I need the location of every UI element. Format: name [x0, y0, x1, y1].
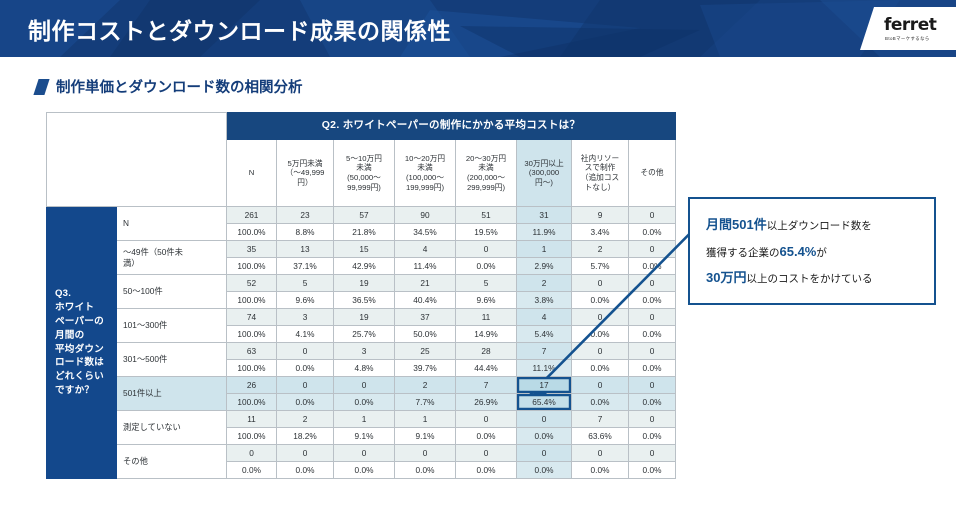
- subtitle-text: 制作単価とダウンロード数の相関分析: [56, 76, 303, 97]
- table-row: 301～500件63032528700: [47, 343, 676, 360]
- cell-percent-3-4: 14.9%: [456, 326, 517, 343]
- cell-percent-5-6: 0.0%: [572, 394, 629, 411]
- cell-count-0-3: 90: [395, 207, 456, 224]
- table-body: Q2. ホワイトペーパーの制作にかかる平均コストは？N5万円未満（～49,999…: [47, 113, 676, 479]
- cell-percent-5-2: 0.0%: [334, 394, 395, 411]
- cell-percent-1-0: 100.0%: [227, 258, 277, 275]
- cell-count-4-2: 3: [334, 343, 395, 360]
- cell-percent-3-6: 0.0%: [572, 326, 629, 343]
- cell-count-3-5: 4: [517, 309, 572, 326]
- cell-count-5-6: 0: [572, 377, 629, 394]
- cell-percent-0-5: 11.9%: [517, 224, 572, 241]
- cell-count-6-7: 0: [629, 411, 676, 428]
- cell-percent-5-1: 0.0%: [277, 394, 334, 411]
- cell-count-2-2: 19: [334, 275, 395, 292]
- cell-count-3-2: 19: [334, 309, 395, 326]
- cell-count-7-6: 0: [572, 445, 629, 462]
- cell-percent-5-5: 65.4%: [517, 394, 572, 411]
- cell-count-7-2: 0: [334, 445, 395, 462]
- cell-percent-3-0: 100.0%: [227, 326, 277, 343]
- cell-percent-0-2: 21.8%: [334, 224, 395, 241]
- callout-text: 月間501件以上ダウンロード数を 獲得する企業の65.4%が 30万円以上のコス…: [690, 199, 934, 292]
- cell-count-3-3: 37: [395, 309, 456, 326]
- cell-count-2-7: 0: [629, 275, 676, 292]
- column-header-5: 30万円以上(300,000円～): [517, 140, 572, 207]
- cell-count-5-4: 7: [456, 377, 517, 394]
- row-label-7: その他: [117, 445, 227, 479]
- cell-count-0-5: 31: [517, 207, 572, 224]
- cell-count-7-7: 0: [629, 445, 676, 462]
- cell-percent-4-7: 0.0%: [629, 360, 676, 377]
- table-row: 測定していない112110070: [47, 411, 676, 428]
- cell-percent-4-1: 0.0%: [277, 360, 334, 377]
- cell-percent-7-1: 0.0%: [277, 462, 334, 479]
- table-row: ～49件（50件未満）35131540120: [47, 241, 676, 258]
- cell-count-0-2: 57: [334, 207, 395, 224]
- cell-percent-6-6: 63.6%: [572, 428, 629, 445]
- column-header-3: 10～20万円未満(100,000～199,999円): [395, 140, 456, 207]
- cell-count-4-6: 0: [572, 343, 629, 360]
- column-header-6: 社内リソースで制作（追加コストなし）: [572, 140, 629, 207]
- row-label-2: 50～100件: [117, 275, 227, 309]
- table-row: その他00000000: [47, 445, 676, 462]
- cell-count-6-5: 0: [517, 411, 572, 428]
- cell-percent-3-3: 50.0%: [395, 326, 456, 343]
- callout-line1-rest: 以上ダウンロード数を: [767, 220, 872, 232]
- cell-percent-6-1: 18.2%: [277, 428, 334, 445]
- cell-count-5-2: 0: [334, 377, 395, 394]
- cell-count-1-6: 2: [572, 241, 629, 258]
- cell-count-0-6: 9: [572, 207, 629, 224]
- cell-count-1-0: 35: [227, 241, 277, 258]
- cell-count-2-1: 5: [277, 275, 334, 292]
- cell-count-2-5: 2: [517, 275, 572, 292]
- cell-percent-7-7: 0.0%: [629, 462, 676, 479]
- cell-count-0-7: 0: [629, 207, 676, 224]
- callout-line-1: 月間501件以上ダウンロード数を: [706, 212, 934, 239]
- row-label-6: 測定していない: [117, 411, 227, 445]
- cell-count-1-1: 13: [277, 241, 334, 258]
- cell-percent-4-6: 0.0%: [572, 360, 629, 377]
- crosstab-table: Q2. ホワイトペーパーの制作にかかる平均コストは？N5万円未満（～49,999…: [46, 112, 676, 479]
- cell-count-4-7: 0: [629, 343, 676, 360]
- cell-percent-0-6: 3.4%: [572, 224, 629, 241]
- cell-percent-1-3: 11.4%: [395, 258, 456, 275]
- cell-count-1-4: 0: [456, 241, 517, 258]
- cell-percent-0-7: 0.0%: [629, 224, 676, 241]
- cell-percent-7-3: 0.0%: [395, 462, 456, 479]
- cell-percent-7-2: 0.0%: [334, 462, 395, 479]
- cell-percent-4-0: 100.0%: [227, 360, 277, 377]
- cell-count-5-1: 0: [277, 377, 334, 394]
- cell-count-0-4: 51: [456, 207, 517, 224]
- table-row: 501件以上2600271700: [47, 377, 676, 394]
- cell-count-2-0: 52: [227, 275, 277, 292]
- cell-count-1-7: 0: [629, 241, 676, 258]
- cell-count-7-3: 0: [395, 445, 456, 462]
- cell-percent-5-4: 26.9%: [456, 394, 517, 411]
- page-title: 制作コストとダウンロード成果の関係性: [28, 12, 451, 46]
- cell-count-4-4: 28: [456, 343, 517, 360]
- cell-percent-1-6: 5.7%: [572, 258, 629, 275]
- cell-count-3-0: 74: [227, 309, 277, 326]
- cell-count-7-5: 0: [517, 445, 572, 462]
- cell-percent-6-0: 100.0%: [227, 428, 277, 445]
- cell-percent-7-0: 0.0%: [227, 462, 277, 479]
- row-label-5: 501件以上: [117, 377, 227, 411]
- cell-count-3-7: 0: [629, 309, 676, 326]
- q3-row-group-header: Q3.ホワイトペーパーの月間の平均ダウンロード数はどれくらいですか？: [47, 207, 117, 479]
- cell-percent-2-4: 9.6%: [456, 292, 517, 309]
- callout-line2-pre: 獲得する企業の: [706, 247, 780, 259]
- cell-percent-1-4: 0.0%: [456, 258, 517, 275]
- cell-count-1-5: 1: [517, 241, 572, 258]
- cell-count-4-5: 7: [517, 343, 572, 360]
- cell-percent-6-3: 9.1%: [395, 428, 456, 445]
- cell-count-6-1: 2: [277, 411, 334, 428]
- cell-percent-3-1: 4.1%: [277, 326, 334, 343]
- cell-percent-5-0: 100.0%: [227, 394, 277, 411]
- cell-percent-3-7: 0.0%: [629, 326, 676, 343]
- slash-accent-icon: [33, 79, 49, 95]
- cell-count-0-0: 261: [227, 207, 277, 224]
- cell-percent-2-3: 40.4%: [395, 292, 456, 309]
- cell-percent-1-7: 0.0%: [629, 258, 676, 275]
- crosstab-table-area: Q2. ホワイトペーパーの制作にかかる平均コストは？N5万円未満（～49,999…: [46, 112, 676, 479]
- cell-count-2-4: 5: [456, 275, 517, 292]
- cell-percent-5-3: 7.7%: [395, 394, 456, 411]
- column-header-2: 5～10万円未満(50,000～99,999円): [334, 140, 395, 207]
- ferret-logo: ferret BtoBマーケするなら: [860, 7, 956, 50]
- cell-percent-2-1: 9.6%: [277, 292, 334, 309]
- cell-percent-2-2: 36.5%: [334, 292, 395, 309]
- cell-percent-2-5: 3.8%: [517, 292, 572, 309]
- q2-column-group-header: Q2. ホワイトペーパーの制作にかかる平均コストは？: [227, 113, 676, 140]
- cell-count-4-0: 63: [227, 343, 277, 360]
- cell-percent-7-4: 0.0%: [456, 462, 517, 479]
- cell-count-3-6: 0: [572, 309, 629, 326]
- callout-line-2: 獲得する企業の65.4%が: [706, 239, 934, 266]
- cell-percent-6-5: 0.0%: [517, 428, 572, 445]
- cell-percent-2-0: 100.0%: [227, 292, 277, 309]
- row-label-0: N: [117, 207, 227, 241]
- cell-count-4-1: 0: [277, 343, 334, 360]
- cell-percent-2-7: 0.0%: [629, 292, 676, 309]
- cell-percent-6-4: 0.0%: [456, 428, 517, 445]
- column-header-7: その他: [629, 140, 676, 207]
- cell-count-1-2: 15: [334, 241, 395, 258]
- cell-count-3-1: 3: [277, 309, 334, 326]
- cell-percent-0-1: 8.8%: [277, 224, 334, 241]
- column-header-1: 5万円未満（～49,999円）: [277, 140, 334, 207]
- cell-percent-4-2: 4.8%: [334, 360, 395, 377]
- cell-percent-0-4: 19.5%: [456, 224, 517, 241]
- callout-line2-bold: 65.4%: [780, 244, 817, 259]
- cell-percent-1-1: 37.1%: [277, 258, 334, 275]
- cell-percent-7-5: 0.0%: [517, 462, 572, 479]
- cell-count-6-4: 0: [456, 411, 517, 428]
- cell-percent-6-2: 9.1%: [334, 428, 395, 445]
- table-row: 101～300件743193711400: [47, 309, 676, 326]
- callout-line3-bold: 30万円: [706, 270, 746, 285]
- cell-percent-7-6: 0.0%: [572, 462, 629, 479]
- cell-percent-3-2: 25.7%: [334, 326, 395, 343]
- callout-line1-bold: 月間501件: [706, 217, 767, 232]
- cell-count-6-0: 11: [227, 411, 277, 428]
- slide-header: 制作コストとダウンロード成果の関係性 ferret BtoBマーケするなら: [0, 0, 956, 57]
- cell-percent-1-5: 2.9%: [517, 258, 572, 275]
- cell-count-2-6: 0: [572, 275, 629, 292]
- cell-count-0-1: 23: [277, 207, 334, 224]
- callout-line2-rest: が: [816, 247, 827, 259]
- cell-percent-0-0: 100.0%: [227, 224, 277, 241]
- logo-wordmark: ferret: [884, 15, 936, 35]
- cell-percent-4-3: 39.7%: [395, 360, 456, 377]
- cell-count-6-2: 1: [334, 411, 395, 428]
- column-header-0: N: [227, 140, 277, 207]
- table-corner: [47, 113, 227, 207]
- table-row: 50～100件52519215200: [47, 275, 676, 292]
- cell-count-7-4: 0: [456, 445, 517, 462]
- row-label-4: 301～500件: [117, 343, 227, 377]
- cell-count-1-3: 4: [395, 241, 456, 258]
- insight-callout-box: 月間501件以上ダウンロード数を 獲得する企業の65.4%が 30万円以上のコス…: [688, 197, 936, 305]
- cell-count-6-6: 7: [572, 411, 629, 428]
- cell-percent-1-2: 42.9%: [334, 258, 395, 275]
- table-row: Q3.ホワイトペーパーの月間の平均ダウンロード数はどれくらいですか？N26123…: [47, 207, 676, 224]
- cell-count-2-3: 21: [395, 275, 456, 292]
- cell-percent-3-5: 5.4%: [517, 326, 572, 343]
- cell-count-5-3: 2: [395, 377, 456, 394]
- column-header-4: 20～30万円未満(200,000～299,999円): [456, 140, 517, 207]
- cell-count-4-3: 25: [395, 343, 456, 360]
- row-label-3: 101～300件: [117, 309, 227, 343]
- cell-count-5-7: 0: [629, 377, 676, 394]
- cell-percent-2-6: 0.0%: [572, 292, 629, 309]
- cell-percent-6-7: 0.0%: [629, 428, 676, 445]
- callout-line3-rest: 以上のコストをかけている: [746, 273, 872, 285]
- callout-line-3: 30万円以上のコストをかけている: [706, 265, 934, 292]
- cell-count-5-5: 17: [517, 377, 572, 394]
- cell-percent-0-3: 34.5%: [395, 224, 456, 241]
- cell-count-5-0: 26: [227, 377, 277, 394]
- section-subtitle: 制作単価とダウンロード数の相関分析: [36, 76, 303, 97]
- cell-count-3-4: 11: [456, 309, 517, 326]
- cell-count-7-1: 0: [277, 445, 334, 462]
- logo-tagline: BtoBマーケするなら: [885, 36, 930, 42]
- cell-percent-4-5: 11.1%: [517, 360, 572, 377]
- cell-count-7-0: 0: [227, 445, 277, 462]
- cell-percent-5-7: 0.0%: [629, 394, 676, 411]
- row-label-1: ～49件（50件未満）: [117, 241, 227, 275]
- cell-count-6-3: 1: [395, 411, 456, 428]
- cell-percent-4-4: 44.4%: [456, 360, 517, 377]
